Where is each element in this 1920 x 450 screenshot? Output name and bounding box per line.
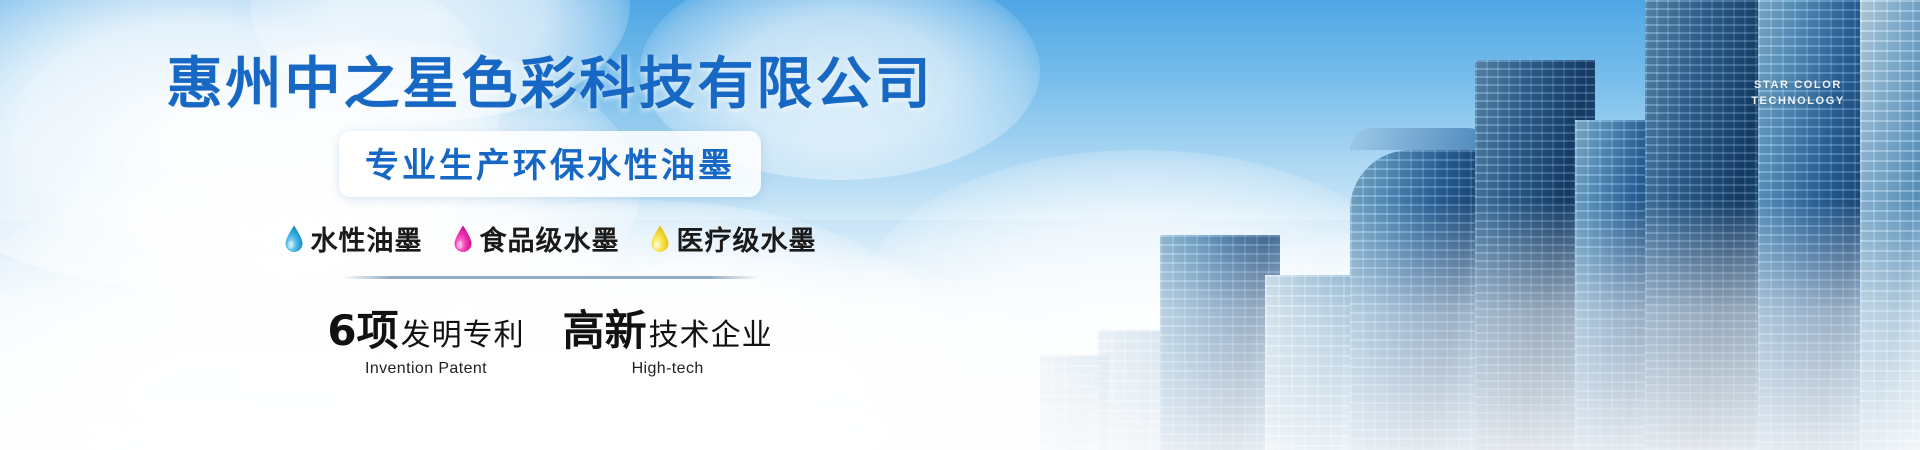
feature-item: 水性油墨 xyxy=(284,219,423,258)
water-drop-icon xyxy=(284,225,304,252)
company-title: 惠州中之星色彩科技有限公司 xyxy=(167,56,934,115)
feature-item: 食品级水墨 xyxy=(453,219,620,258)
credential-highlight: 高新 xyxy=(563,297,647,358)
water-drop-icon xyxy=(453,225,473,252)
feature-item: 医疗级水墨 xyxy=(650,219,817,258)
building-crown xyxy=(1350,128,1490,150)
credential-rest: 发明专利 xyxy=(401,310,525,354)
corner-watermark: STAR COLOR TECHNOLOGY xyxy=(1738,78,1858,110)
feature-list: 水性油墨 食品级水墨 xyxy=(284,219,817,258)
credential-item: 6项 发明专利 Invention Patent xyxy=(327,297,524,378)
credential-main: 高新 技术企业 xyxy=(563,297,773,358)
section-divider xyxy=(341,276,759,279)
credential-item: 高新 技术企业 High-tech xyxy=(563,297,773,378)
feature-label: 水性油墨 xyxy=(311,219,423,258)
corner-watermark-line1: STAR COLOR xyxy=(1738,78,1858,94)
promo-banner: Star Color STAR COLOR TECHNOLOGY 惠州中之星色彩… xyxy=(0,0,1920,450)
credential-highlight: 6项 xyxy=(327,297,398,358)
credential-english: High-tech xyxy=(563,360,773,378)
credential-english: Invention Patent xyxy=(327,360,524,378)
credential-main: 6项 发明专利 xyxy=(327,297,524,358)
subtitle-pill: 专业生产环保水性油墨 xyxy=(339,131,761,197)
feature-label: 食品级水墨 xyxy=(480,219,620,258)
banner-content: 惠州中之星色彩科技有限公司 专业生产环保水性油墨 水性油 xyxy=(0,0,1100,450)
corner-watermark-line2: TECHNOLOGY xyxy=(1738,94,1858,110)
water-drop-icon xyxy=(650,225,670,252)
subtitle-text: 专业生产环保水性油墨 xyxy=(365,138,735,187)
credentials-list: 6项 发明专利 Invention Patent 高新 技术企业 High-te… xyxy=(327,297,772,378)
feature-label: 医疗级水墨 xyxy=(677,219,817,258)
credential-rest: 技术企业 xyxy=(649,310,773,354)
